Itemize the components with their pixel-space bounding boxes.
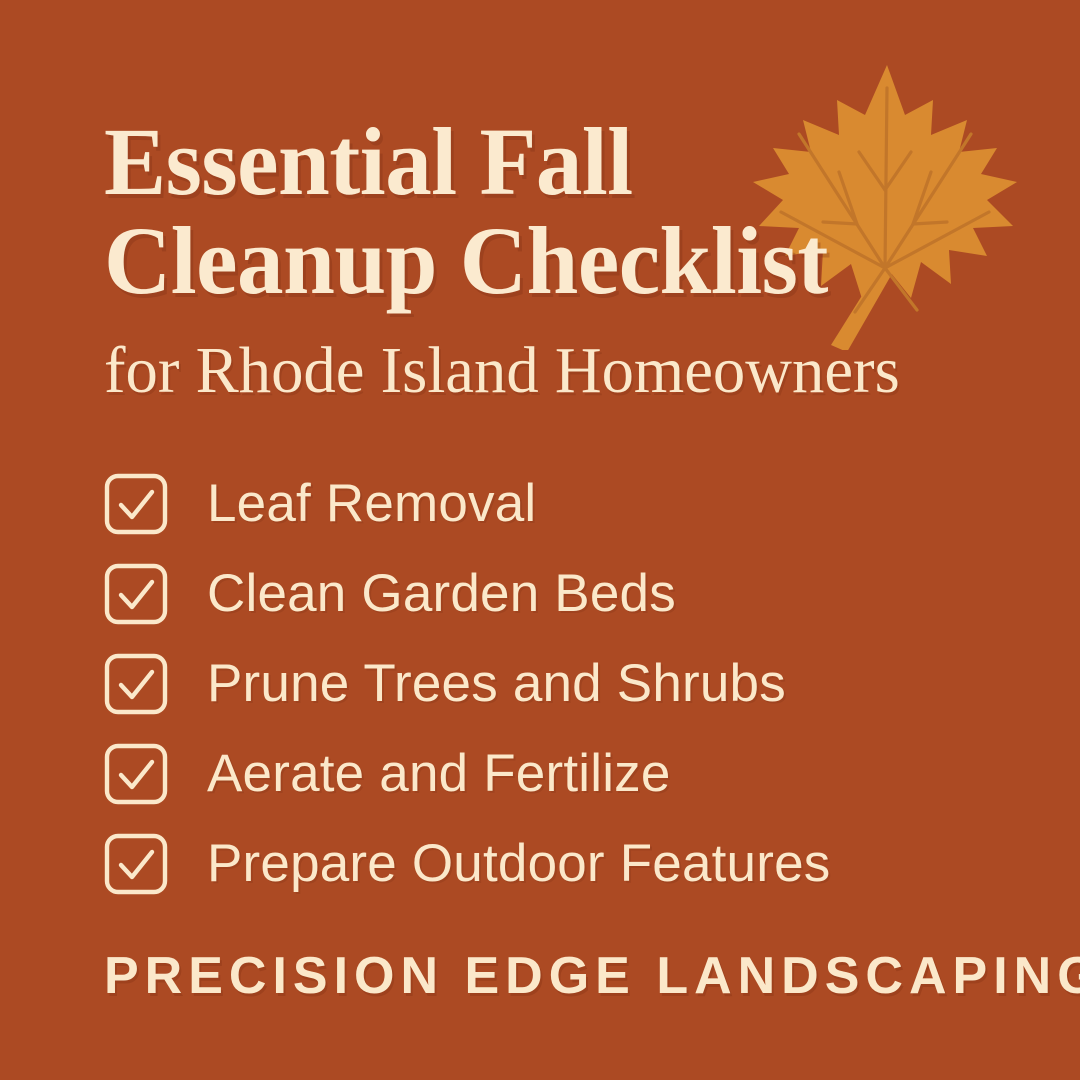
list-item-label: Prepare Outdoor Features bbox=[207, 835, 830, 893]
checkbox-checked-icon[interactable] bbox=[104, 563, 168, 625]
brand-footer: PRECISION EDGE LANDSCAPING bbox=[104, 946, 1004, 1006]
list-item-label: Clean Garden Beds bbox=[207, 565, 676, 623]
title-line-2: Cleanup Checklist bbox=[104, 211, 977, 310]
list-item[interactable]: Prepare Outdoor Features bbox=[104, 819, 984, 909]
list-item-label: Leaf Removal bbox=[207, 475, 536, 533]
checklist: Leaf Removal Clean Garden Beds Prune Tre… bbox=[104, 459, 984, 909]
page-title: Essential Fall Cleanup Checklist for Rho… bbox=[104, 112, 1004, 408]
checkbox-checked-icon[interactable] bbox=[104, 833, 168, 895]
title-line-1: Essential Fall bbox=[104, 112, 977, 211]
checkbox-checked-icon[interactable] bbox=[104, 653, 168, 715]
list-item-label: Prune Trees and Shrubs bbox=[207, 655, 786, 713]
list-item[interactable]: Clean Garden Beds bbox=[104, 549, 984, 639]
checkbox-checked-icon[interactable] bbox=[104, 743, 168, 805]
subtitle: for Rhode Island Homeowners bbox=[104, 334, 986, 408]
list-item[interactable]: Prune Trees and Shrubs bbox=[104, 639, 984, 729]
list-item-label: Aerate and Fertilize bbox=[207, 745, 671, 803]
list-item[interactable]: Aerate and Fertilize bbox=[104, 729, 984, 819]
fall-cleanup-checklist-poster: Essential Fall Cleanup Checklist for Rho… bbox=[0, 0, 1080, 1080]
checkbox-checked-icon[interactable] bbox=[104, 473, 168, 535]
list-item[interactable]: Leaf Removal bbox=[104, 459, 984, 549]
